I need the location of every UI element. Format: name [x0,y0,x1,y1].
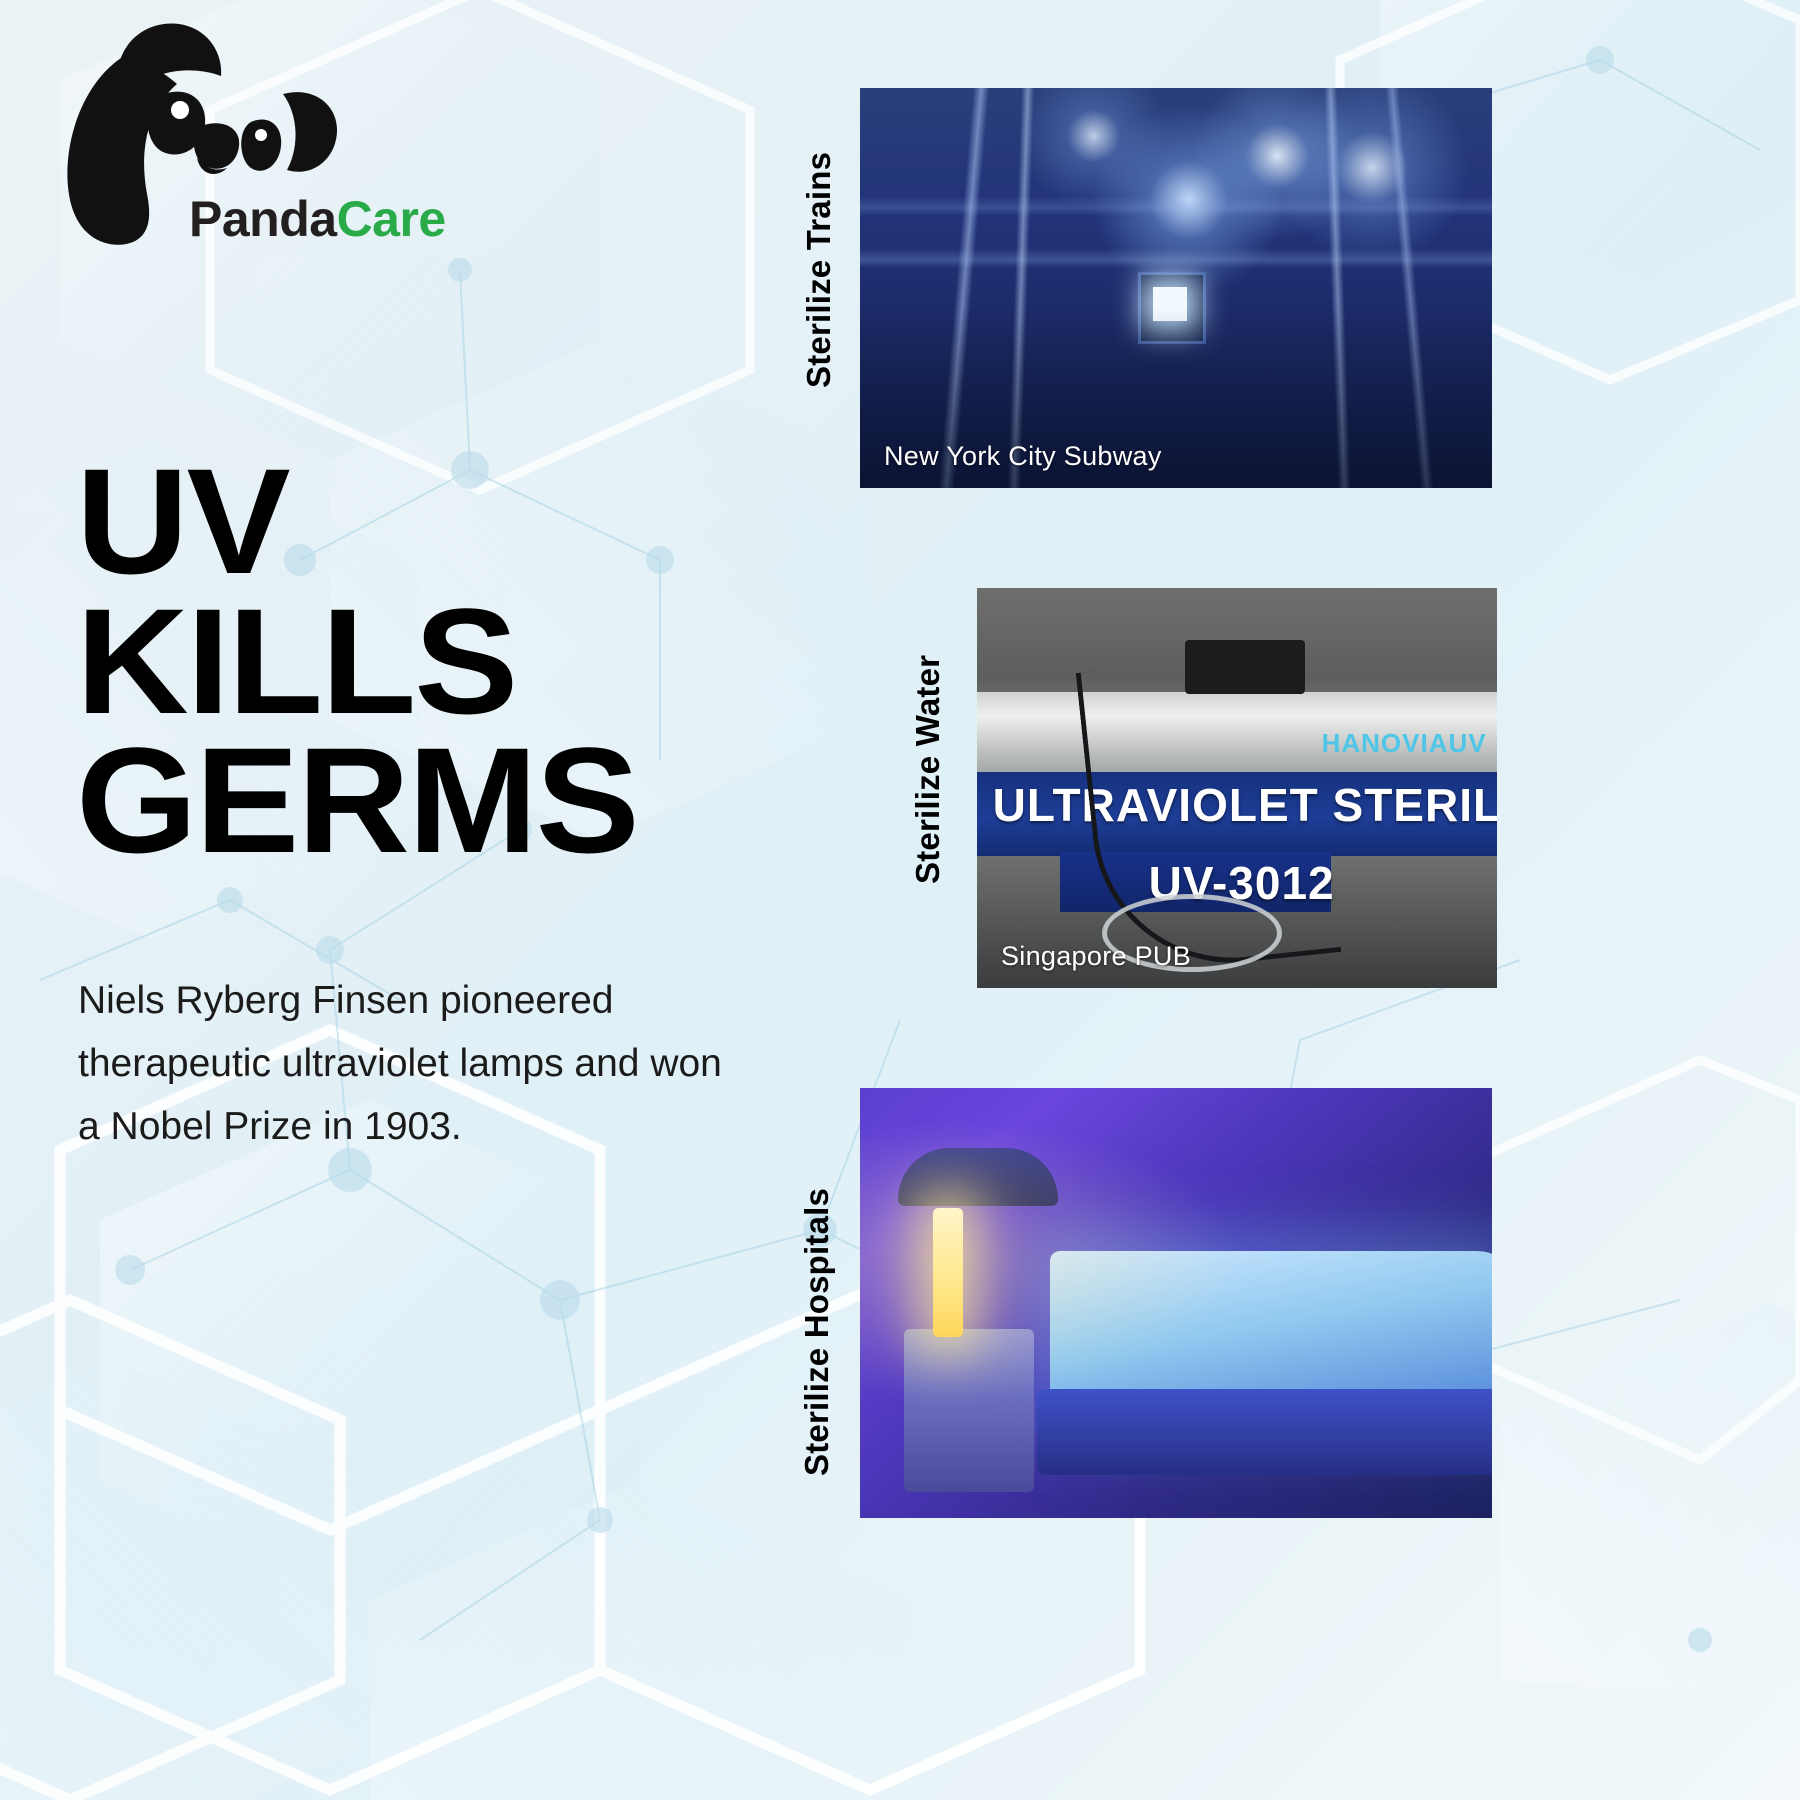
headline-line-3: GERMS [76,731,804,871]
brand-text-part1: HANOVIA [1322,728,1449,758]
hospital-uv-disinfection-photo [860,1088,1492,1518]
panel-sterilize-water: Sterilize Water ULTRAVIOLET STERILIZER U… [905,588,1525,988]
photo-vignette [860,88,1492,488]
subway-car-uv-photo: New York City Subway [860,88,1492,488]
panel-label-water: Sterilize Water [909,655,947,884]
panel-sterilize-trains: Sterilize Trains New York City Subway [790,88,1510,488]
body-paragraph: Niels Ryberg Finsen pioneered therapeuti… [78,969,738,1159]
poster-canvas: PandaCare UV KILLS GERMS Niels Ryberg Fi… [0,0,1800,1800]
uv-glow-overlay [860,1088,1492,1518]
photo-caption-trains: New York City Subway [884,441,1162,472]
panel-label-trains: Sterilize Trains [800,152,838,388]
brand-logo: PandaCare [55,18,475,293]
brand-name-part1: Panda [189,191,337,247]
headline-line-2: KILLS [76,592,804,732]
headline-line-1: UV [76,452,804,592]
brand-text-part2: UV [1448,728,1486,758]
sterilizer-brand-text: HANOVIAUV [1322,728,1487,759]
brand-name-part2: Care [337,191,446,247]
uv-water-sterilizer-photo: ULTRAVIOLET STERILIZER UV-3012 HANOVIAUV… [977,588,1497,988]
page-title: UV KILLS GERMS [76,452,776,871]
brand-wordmark: PandaCare [189,194,446,244]
panel-sterilize-hospitals: Sterilize Hospitals [790,1088,1510,1518]
photo-caption-water: Singapore PUB [1001,941,1191,972]
panel-label-hospitals: Sterilize Hospitals [798,1188,836,1476]
